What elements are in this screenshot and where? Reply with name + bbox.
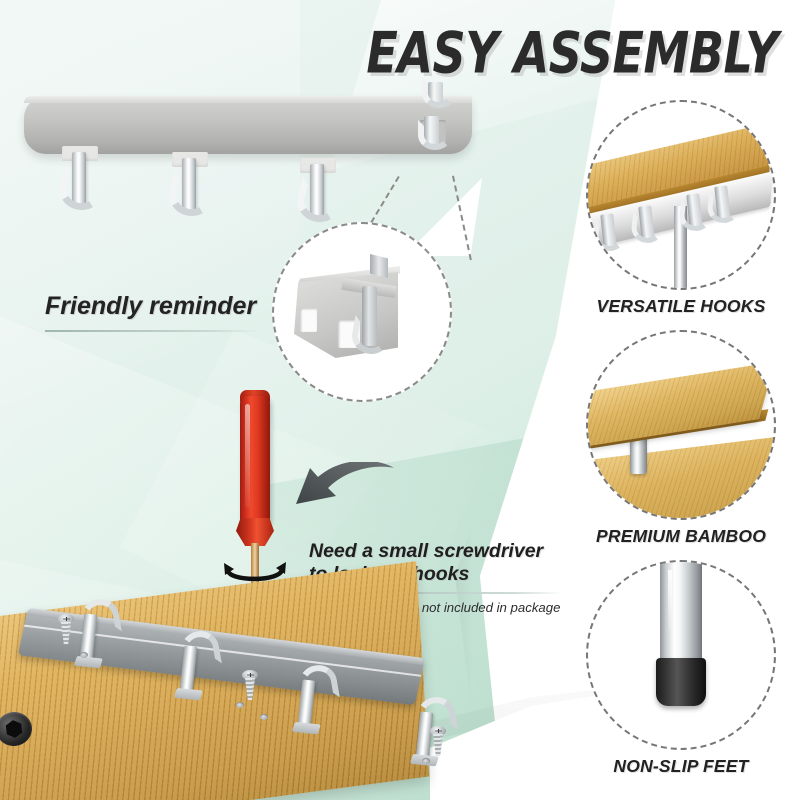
rubber-foot — [656, 658, 706, 706]
rail-rivet — [236, 702, 244, 708]
infographic-canvas: EASY ASSEMBLY Friendly reminder — [0, 0, 800, 800]
hook-icon-detached — [424, 116, 439, 146]
hook-icon — [72, 152, 86, 204]
feature-caption-premium-bamboo: PREMIUM BAMBOO — [578, 526, 784, 547]
friendly-reminder-divider — [45, 330, 260, 332]
screw-icon — [242, 670, 258, 700]
top-hook-rail — [24, 96, 472, 154]
curved-arrow-icon — [290, 462, 400, 542]
screw-icon — [430, 726, 446, 756]
rail-rivet — [422, 758, 430, 764]
screwdriver-note-line1: Need a small screwdriver — [309, 540, 543, 562]
hook-icon — [182, 158, 196, 210]
rail-rivet — [260, 714, 268, 720]
hook-bracket-detail-bubble — [272, 222, 452, 402]
friendly-reminder-block: Friendly reminder — [45, 292, 260, 332]
feature-image-versatile-hooks — [586, 100, 776, 290]
hook-clip-icon — [428, 82, 443, 104]
bracket-slot-1 — [300, 308, 317, 332]
feature-image-non-slip-feet — [586, 560, 776, 750]
feature-premium-bamboo: PREMIUM BAMBOO — [578, 330, 784, 547]
rail-top-edge — [24, 96, 472, 103]
feature-caption-non-slip-feet: NON-SLIP FEET — [578, 756, 784, 777]
screw-icon — [58, 614, 74, 644]
bracket-hook-clip — [362, 286, 377, 346]
feature-versatile-hooks: VERSATILE HOOKS — [578, 100, 784, 317]
rail-rivet — [80, 652, 88, 658]
feature-caption-versatile-hooks: VERSATILE HOOKS — [578, 296, 784, 317]
friendly-reminder-heading: Friendly reminder — [45, 292, 260, 321]
chrome-leg — [660, 560, 702, 660]
bamboo-shelf-upper — [586, 362, 775, 448]
hook-icon — [310, 164, 324, 216]
feature-non-slip-feet: NON-SLIP FEET — [578, 560, 784, 777]
bottom-assembly-scene — [0, 562, 510, 800]
feature-image-premium-bamboo — [586, 330, 776, 520]
screwdriver-handle — [240, 396, 270, 524]
bamboo-shelf-lower — [586, 436, 776, 520]
